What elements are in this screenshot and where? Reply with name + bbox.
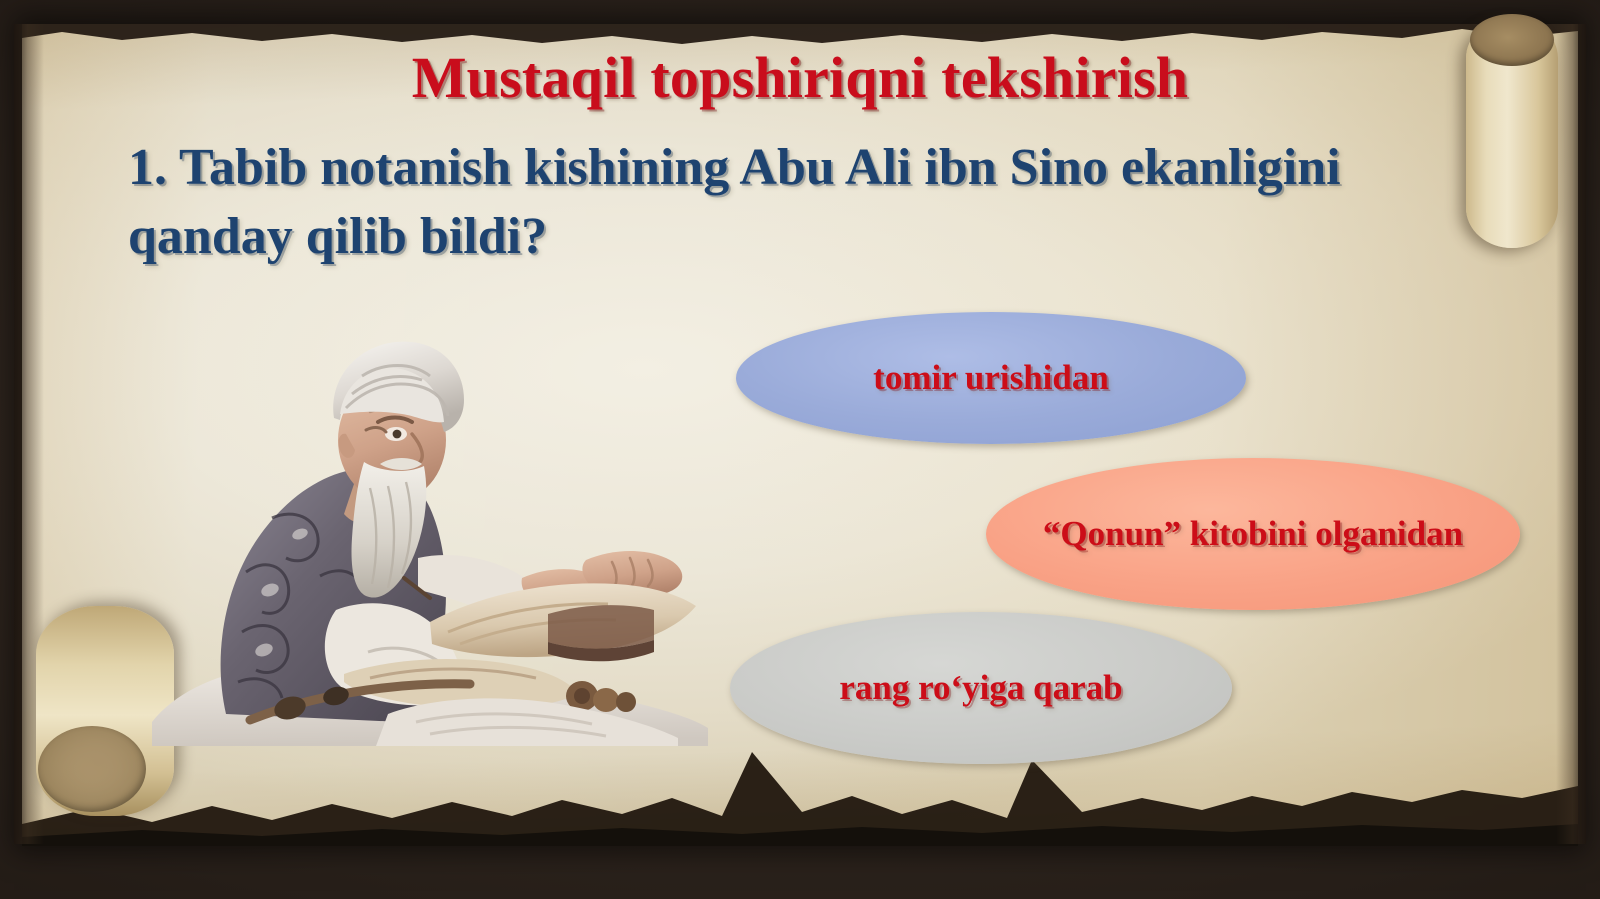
option-label: tomir urishidan bbox=[873, 357, 1109, 398]
option-label: “Qonun” kitobini olganidan bbox=[1043, 513, 1463, 554]
ibn-sino-illustration bbox=[130, 322, 730, 754]
option-label: rang ro‘yiga qarab bbox=[839, 667, 1122, 708]
slide-title: Mustaqil topshiriqni tekshirish bbox=[0, 44, 1600, 111]
question-text: 1. Tabib notanish kishining Abu Ali ibn … bbox=[128, 134, 1408, 271]
option-ellipse-tomir-urishidan[interactable]: tomir urishidan bbox=[736, 312, 1246, 444]
option-ellipse-rang-royiga-qarab[interactable]: rang ro‘yiga qarab bbox=[730, 612, 1232, 764]
slide-canvas: Mustaqil topshiriqni tekshirish 1. Tabib… bbox=[0, 0, 1600, 899]
option-ellipse-qonun-kitobini-olganidan[interactable]: “Qonun” kitobini olganidan bbox=[986, 458, 1520, 610]
